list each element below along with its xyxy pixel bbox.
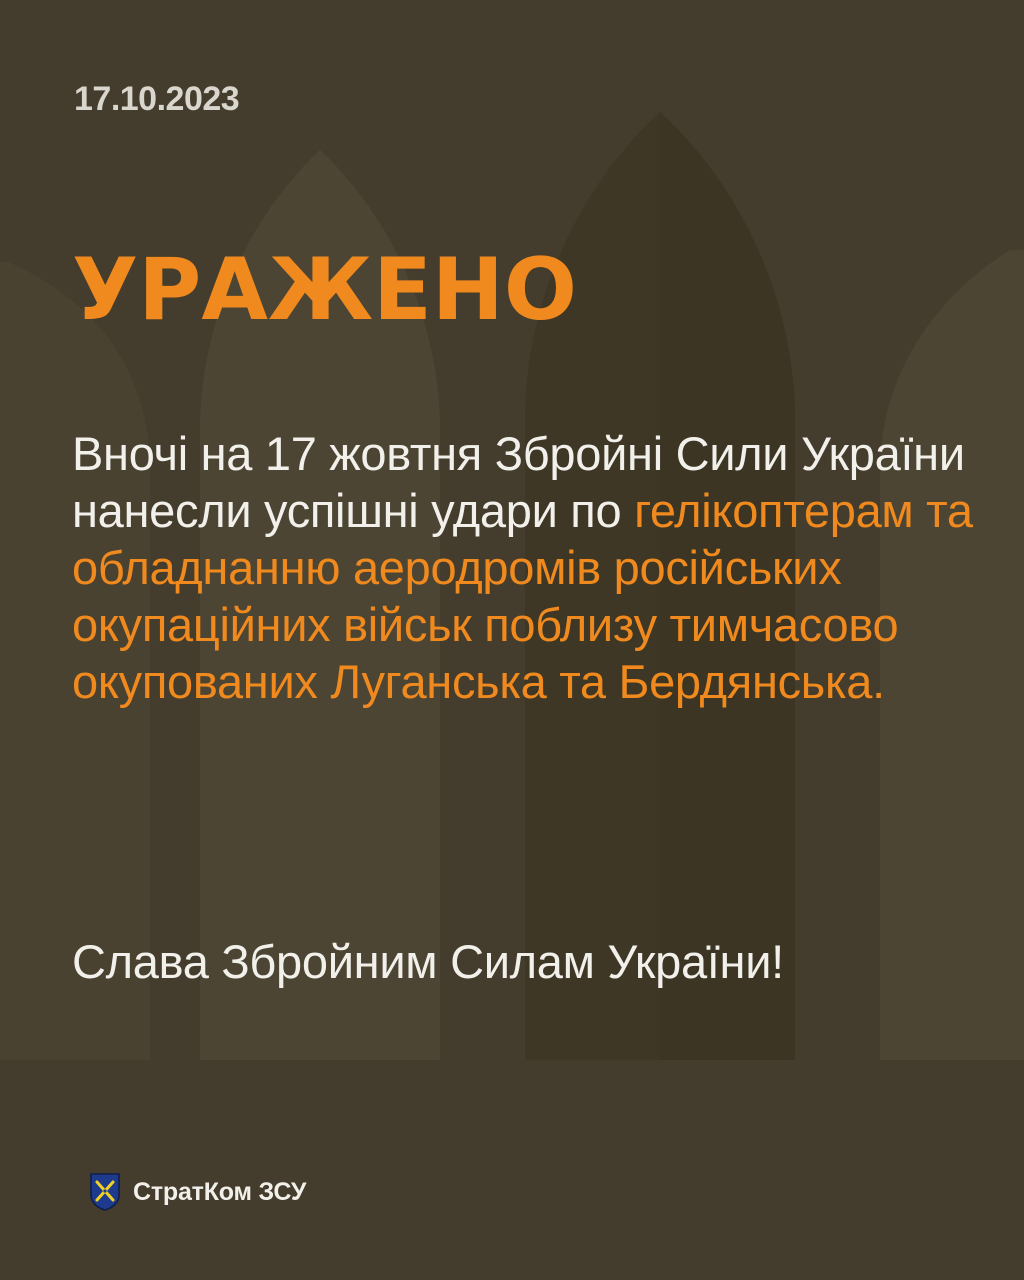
body-paragraph: Вночі на 17 жовтня Збройні Сили України …: [72, 425, 992, 710]
poster-canvas: 17.10.2023 УРАЖЕНО Вночі на 17 жовтня Зб…: [0, 0, 1024, 1280]
page-title: УРАЖЕНО: [72, 250, 577, 332]
slogan-text: Слава Збройним Силам України!: [72, 933, 1002, 990]
footer-label: СтратКом ЗСУ: [133, 1178, 306, 1207]
stratcom-shield-emblem: [90, 1173, 120, 1211]
date-stamp: 17.10.2023: [74, 80, 239, 119]
footer-branding: СтратКом ЗСУ: [90, 1173, 306, 1211]
